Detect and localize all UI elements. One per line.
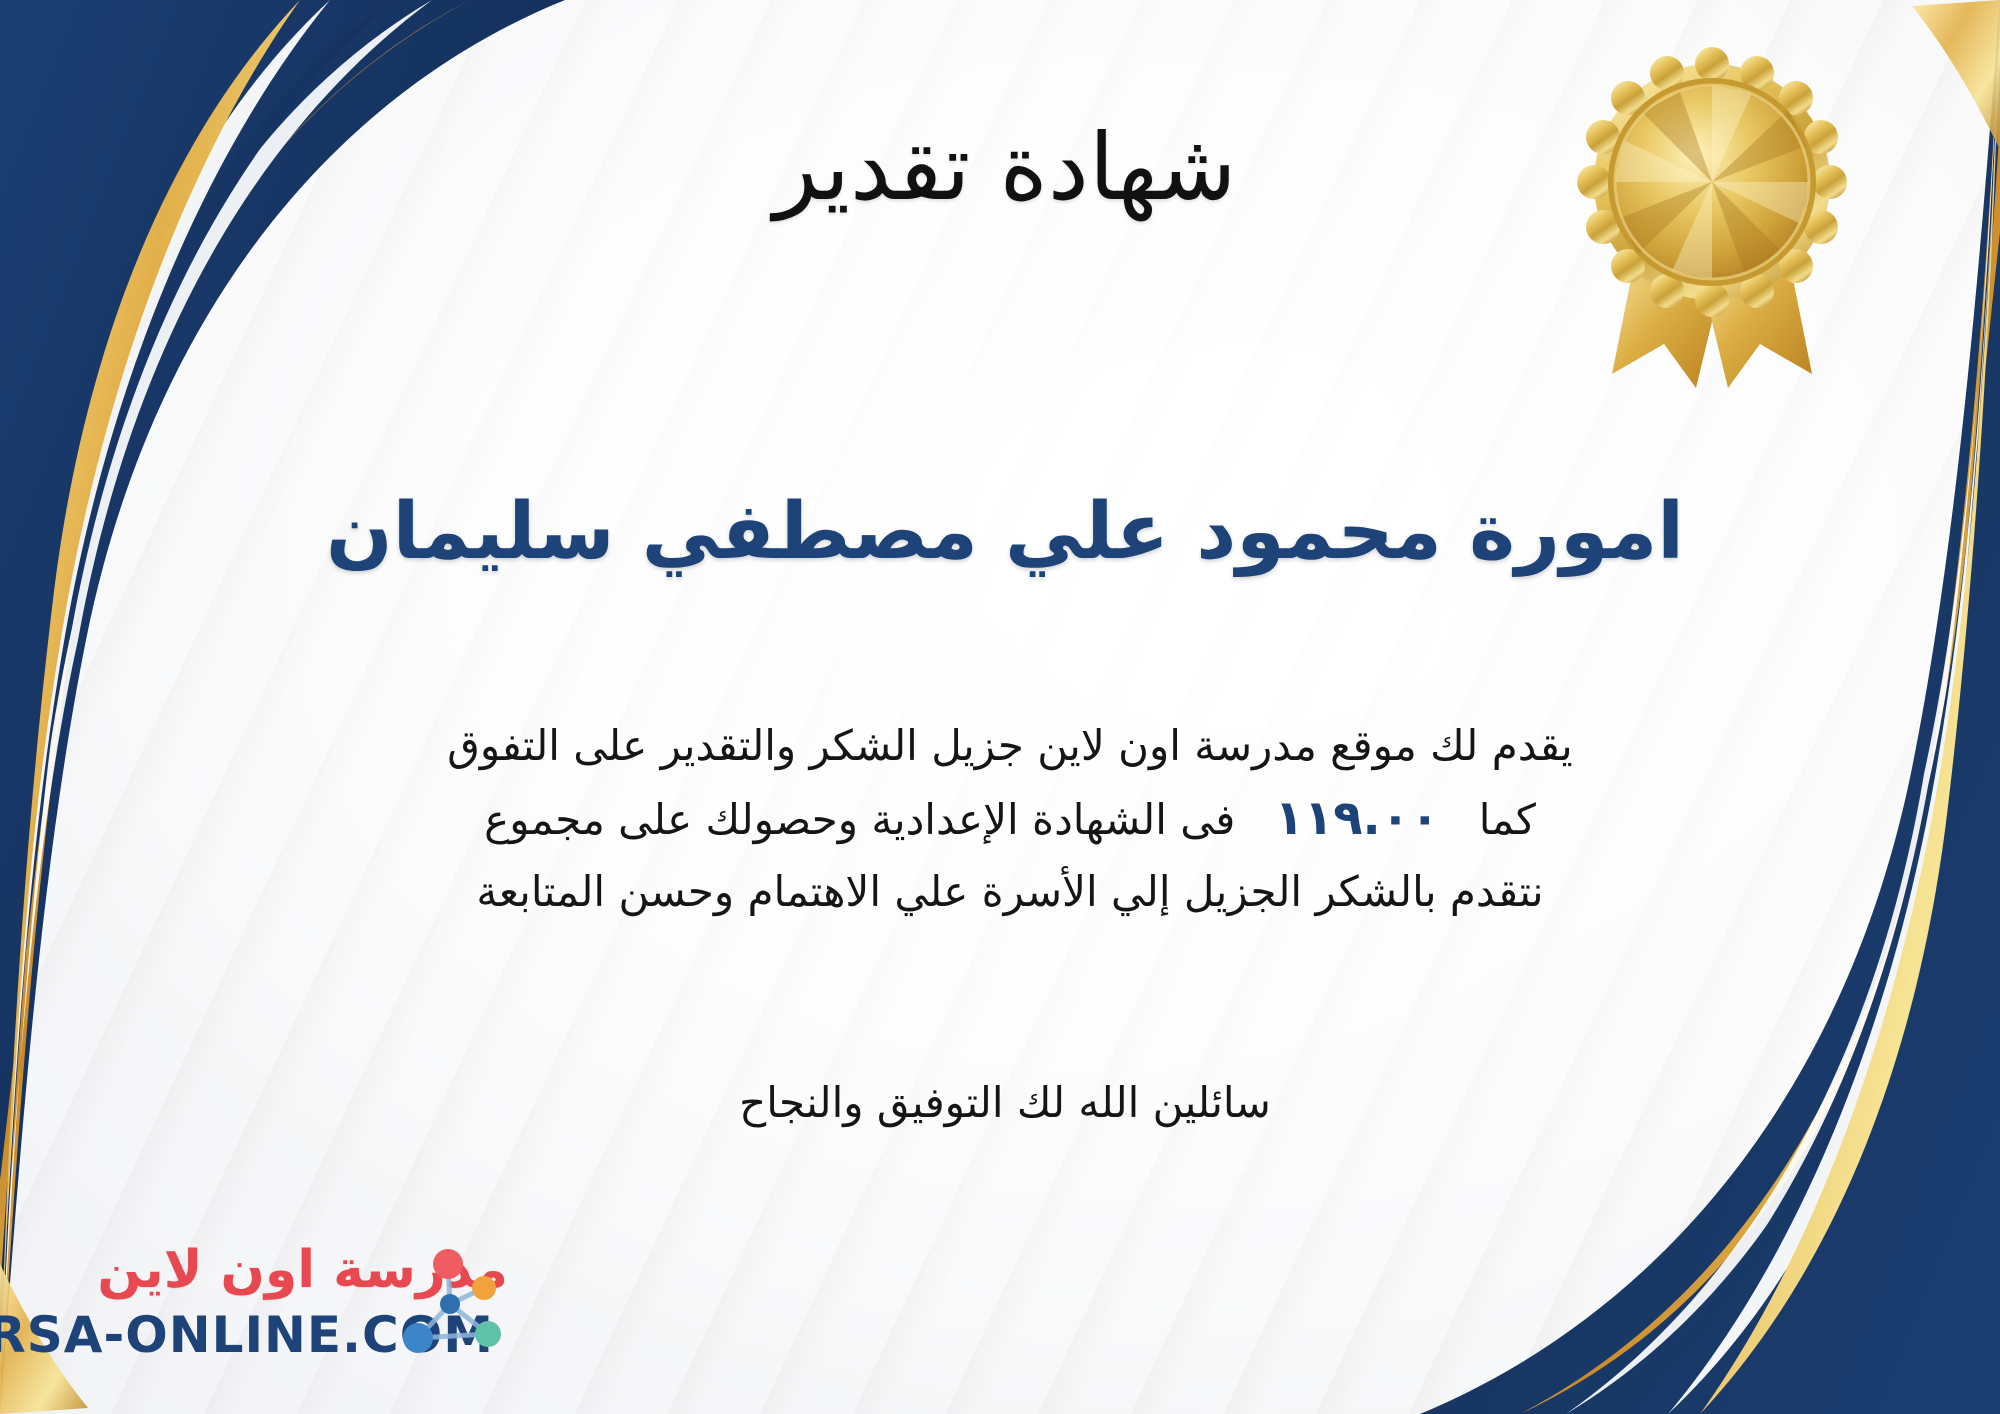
body-line-1: يقدم لك موقع مدرسة اون لاين جزيل الشكر و… xyxy=(190,712,1830,780)
network-nodes-icon xyxy=(388,1242,518,1372)
site-brand-footer[interactable]: مدرسة اون لاين MADRSA-ONLINE.COM xyxy=(34,1236,594,1386)
total-score-value: ١١٩.٠٠ xyxy=(1249,790,1466,846)
certificate-content: شهادة تقدير امورة محمود علي مصطفي سليمان… xyxy=(160,0,1850,1414)
body-line-3: نتقدم بالشكر الجزيل إلي الأسرة علي الاهت… xyxy=(190,858,1830,926)
certificate-canvas: شهادة تقدير امورة محمود علي مصطفي سليمان… xyxy=(0,0,2000,1414)
body-line-2-suffix: كما xyxy=(1479,795,1536,844)
body-line-2-prefix: فى الشهادة الإعدادية وحصولك على مجموع xyxy=(484,795,1235,844)
certificate-body-text: يقدم لك موقع مدرسة اون لاين جزيل الشكر و… xyxy=(190,712,1830,926)
closing-wish-text: سائلين الله لك التوفيق والنجاح xyxy=(160,1078,1850,1127)
body-line-2: كما ١١٩.٠٠ فى الشهادة الإعدادية وحصولك ع… xyxy=(190,780,1830,858)
page-title: شهادة تقدير xyxy=(160,120,1850,217)
recipient-name: امورة محمود علي مصطفي سليمان xyxy=(160,486,1850,578)
